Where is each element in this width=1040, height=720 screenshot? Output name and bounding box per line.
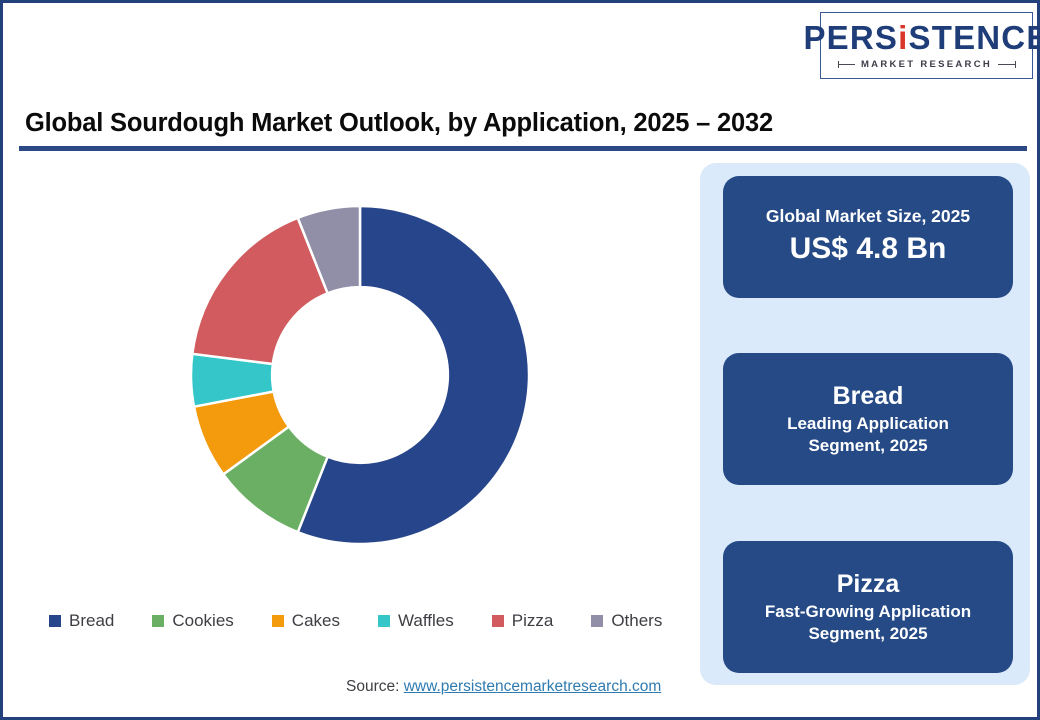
logo-word-part2: STENCE xyxy=(909,19,1040,56)
logo-word-part1: PERS xyxy=(803,19,898,56)
legend-item-bread[interactable]: Bread xyxy=(49,611,114,631)
legend-item-others[interactable]: Others xyxy=(591,611,662,631)
source-label: Source: xyxy=(346,678,399,695)
legend-swatch-waffles xyxy=(378,615,390,627)
infographic-frame: PERSiSTENCE MARKET RESEARCH Global Sourd… xyxy=(0,0,1040,720)
legend-item-pizza[interactable]: Pizza xyxy=(492,611,554,631)
leading-segment-line2: Segment, 2025 xyxy=(808,435,927,457)
leading-segment-name: Bread xyxy=(833,381,904,412)
legend-swatch-bread xyxy=(49,615,61,627)
stat-card-market-size: Global Market Size, 2025 US$ 4.8 Bn xyxy=(723,176,1013,298)
source-line: Source: www.persistencemarketresearch.co… xyxy=(346,678,661,696)
donut-chart xyxy=(171,193,549,563)
legend-swatch-cookies xyxy=(152,615,164,627)
legend-swatch-cakes xyxy=(272,615,284,627)
legend-swatch-others xyxy=(591,615,603,627)
fastest-segment-line2: Segment, 2025 xyxy=(808,623,927,645)
logo-rule-left xyxy=(838,64,855,65)
legend-item-cakes[interactable]: Cakes xyxy=(272,611,340,631)
logo-rule-right xyxy=(998,64,1015,65)
legend-item-waffles[interactable]: Waffles xyxy=(378,611,454,631)
legend-label-cakes: Cakes xyxy=(292,611,340,631)
logo-word-i: i xyxy=(898,19,908,56)
logo-wordmark: PERSiSTENCE xyxy=(803,21,1040,54)
chart-legend: BreadCookiesCakesWafflesPizzaOthers xyxy=(49,611,669,631)
market-size-value: US$ 4.8 Bn xyxy=(790,229,947,268)
page-title: Global Sourdough Market Outlook, by Appl… xyxy=(25,109,905,138)
legend-label-waffles: Waffles xyxy=(398,611,454,631)
fastest-segment-line1: Fast-Growing Application xyxy=(765,601,971,623)
stat-card-fastest-segment: Pizza Fast-Growing Application Segment, … xyxy=(723,541,1013,673)
donut-chart-svg xyxy=(171,193,549,563)
fastest-segment-name: Pizza xyxy=(837,569,900,600)
stat-card-leading-segment: Bread Leading Application Segment, 2025 xyxy=(723,353,1013,485)
logo-tagline-wrap: MARKET RESEARCH xyxy=(838,59,1016,70)
source-link[interactable]: www.persistencemarketresearch.com xyxy=(404,678,662,695)
legend-swatch-pizza xyxy=(492,615,504,627)
legend-label-others: Others xyxy=(611,611,662,631)
logo-tagline: MARKET RESEARCH xyxy=(861,59,992,70)
legend-label-bread: Bread xyxy=(69,611,114,631)
leading-segment-line1: Leading Application xyxy=(787,413,949,435)
legend-label-cookies: Cookies xyxy=(172,611,233,631)
title-divider xyxy=(19,146,1027,151)
company-logo: PERSiSTENCE MARKET RESEARCH xyxy=(820,12,1033,79)
legend-item-cookies[interactable]: Cookies xyxy=(152,611,233,631)
market-size-label: Global Market Size, 2025 xyxy=(766,206,970,228)
legend-label-pizza: Pizza xyxy=(512,611,554,631)
